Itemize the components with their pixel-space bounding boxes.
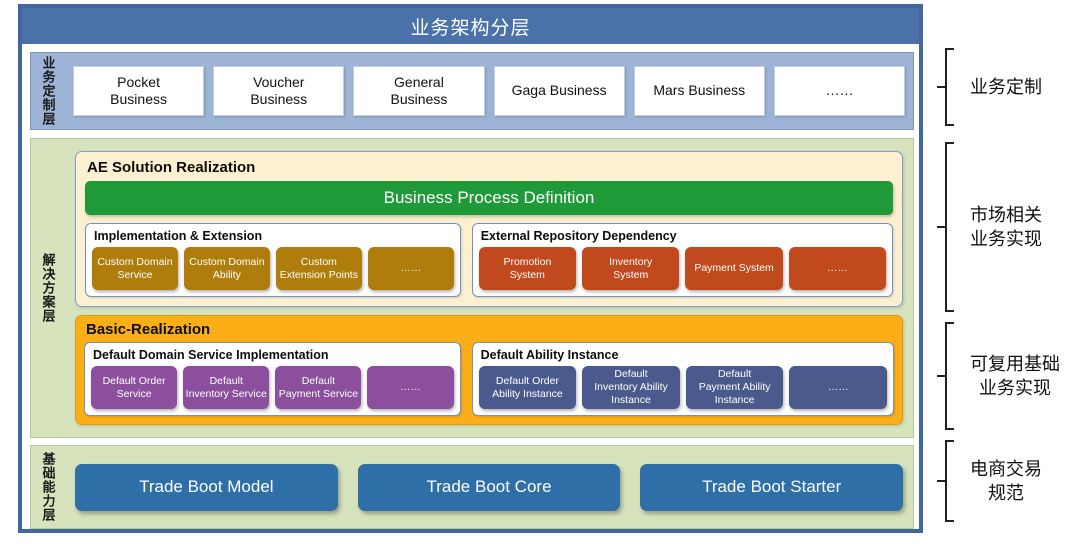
external-repository-dependency-chips: Promotion System Inventory System Paymen… (479, 247, 886, 290)
layer-body-solution: AE Solution Realization Business Process… (65, 139, 913, 437)
basic-realization-panel: Basic-Realization Default Domain Service… (75, 315, 903, 425)
layer-label-base-capability: 基础能力层 (31, 446, 65, 528)
layer-solution: 解决方案层 AE Solution Realization Business P… (30, 138, 914, 438)
chip-default-order-ability-instance[interactable]: Default Order Ability Instance (479, 366, 577, 409)
annotation-label: 可复用基础 业务实现 (970, 352, 1060, 401)
annotation-label: 业务定制 (970, 75, 1042, 99)
trade-boot-core-box[interactable]: Trade Boot Core (358, 464, 621, 511)
chip-default-payment-ability-instance[interactable]: Default Payment Ability Instance (686, 366, 784, 409)
business-process-definition-bar[interactable]: Business Process Definition (85, 181, 893, 215)
annotation-reusable-base-realization: 可复用基础 业务实现 (938, 322, 1060, 430)
chip-more[interactable]: …… (367, 366, 453, 409)
bracket-icon (938, 322, 952, 430)
layer-label-business-customization: 业务定制层 (31, 53, 65, 129)
annotation-label: 电商交易 规范 (970, 457, 1042, 506)
page-title: 业务架构分层 (410, 13, 530, 40)
chip-more[interactable]: …… (368, 247, 454, 290)
chip-custom-domain-ability[interactable]: Custom Domain Ability (184, 247, 270, 290)
chip-more[interactable]: …… (789, 366, 887, 409)
default-ability-instance-chips: Default Order Ability Instance Default I… (479, 366, 887, 409)
basic-subpanel-row: Default Domain Service Implementation De… (84, 342, 894, 416)
layer-base-capability: 基础能力层 Trade Boot Model Trade Boot Core T… (30, 445, 914, 529)
business-box[interactable]: Voucher Business (213, 66, 344, 116)
business-box[interactable]: General Business (353, 66, 484, 116)
annotation-business-customization: 业务定制 (938, 48, 1042, 126)
implementation-extension-title: Implementation & Extension (94, 229, 454, 243)
default-domain-service-chips: Default Order Service Default Inventory … (91, 366, 454, 409)
layer-body-business-customization: Pocket Business Voucher Business General… (65, 53, 913, 129)
diagram-canvas: 业务架构分层 业务定制层 Pocket Business Voucher Bus… (0, 0, 1080, 544)
default-domain-service-implementation-title: Default Domain Service Implementation (93, 348, 454, 362)
bracket-icon (938, 142, 952, 312)
layer-body-base-capability: Trade Boot Model Trade Boot Core Trade B… (65, 446, 913, 528)
chip-default-inventory-service[interactable]: Default Inventory Service (183, 366, 269, 409)
diagram-title-bar: 业务架构分层 (22, 8, 919, 44)
default-ability-instance-subpanel: Default Ability Instance Default Order A… (472, 342, 894, 416)
chip-default-order-service[interactable]: Default Order Service (91, 366, 177, 409)
business-box[interactable]: Gaga Business (494, 66, 625, 116)
default-domain-service-implementation-subpanel: Default Domain Service Implementation De… (84, 342, 461, 416)
annotation-ecommerce-trade-spec: 电商交易 规范 (938, 440, 1042, 522)
business-box-more[interactable]: …… (774, 66, 905, 116)
architecture-outer-frame: 业务架构分层 业务定制层 Pocket Business Voucher Bus… (18, 4, 923, 533)
chip-inventory-system[interactable]: Inventory System (582, 247, 679, 290)
chip-custom-extension-points[interactable]: Custom Extension Points (276, 247, 362, 290)
annotation-market-business-realization: 市场相关 业务实现 (938, 142, 1042, 312)
ae-panel-title: AE Solution Realization (87, 159, 893, 176)
chip-default-payment-service[interactable]: Default Payment Service (275, 366, 361, 409)
business-box[interactable]: Mars Business (634, 66, 765, 116)
external-repository-dependency-title: External Repository Dependency (481, 229, 886, 243)
basic-realization-title: Basic-Realization (86, 321, 894, 338)
ae-solution-realization-panel: AE Solution Realization Business Process… (75, 151, 903, 307)
layer-business-customization: 业务定制层 Pocket Business Voucher Business G… (30, 52, 914, 130)
annotation-label: 市场相关 业务实现 (970, 203, 1042, 252)
chip-more[interactable]: …… (789, 247, 886, 290)
ae-subpanel-row: Implementation & Extension Custom Domain… (85, 223, 893, 297)
trade-boot-model-box[interactable]: Trade Boot Model (75, 464, 338, 511)
layer-label-solution: 解决方案层 (31, 139, 65, 437)
implementation-extension-subpanel: Implementation & Extension Custom Domain… (85, 223, 461, 297)
trade-boot-starter-box[interactable]: Trade Boot Starter (640, 464, 903, 511)
bracket-icon (938, 48, 952, 126)
default-ability-instance-title: Default Ability Instance (481, 348, 887, 362)
chip-promotion-system[interactable]: Promotion System (479, 247, 576, 290)
bracket-icon (938, 440, 952, 522)
chip-custom-domain-service[interactable]: Custom Domain Service (92, 247, 178, 290)
business-box[interactable]: Pocket Business (73, 66, 204, 116)
chip-payment-system[interactable]: Payment System (685, 247, 782, 290)
implementation-extension-chips: Custom Domain Service Custom Domain Abil… (92, 247, 454, 290)
chip-default-inventory-ability-instance[interactable]: Default Inventory Ability Instance (582, 366, 680, 409)
external-repository-dependency-subpanel: External Repository Dependency Promotion… (472, 223, 893, 297)
